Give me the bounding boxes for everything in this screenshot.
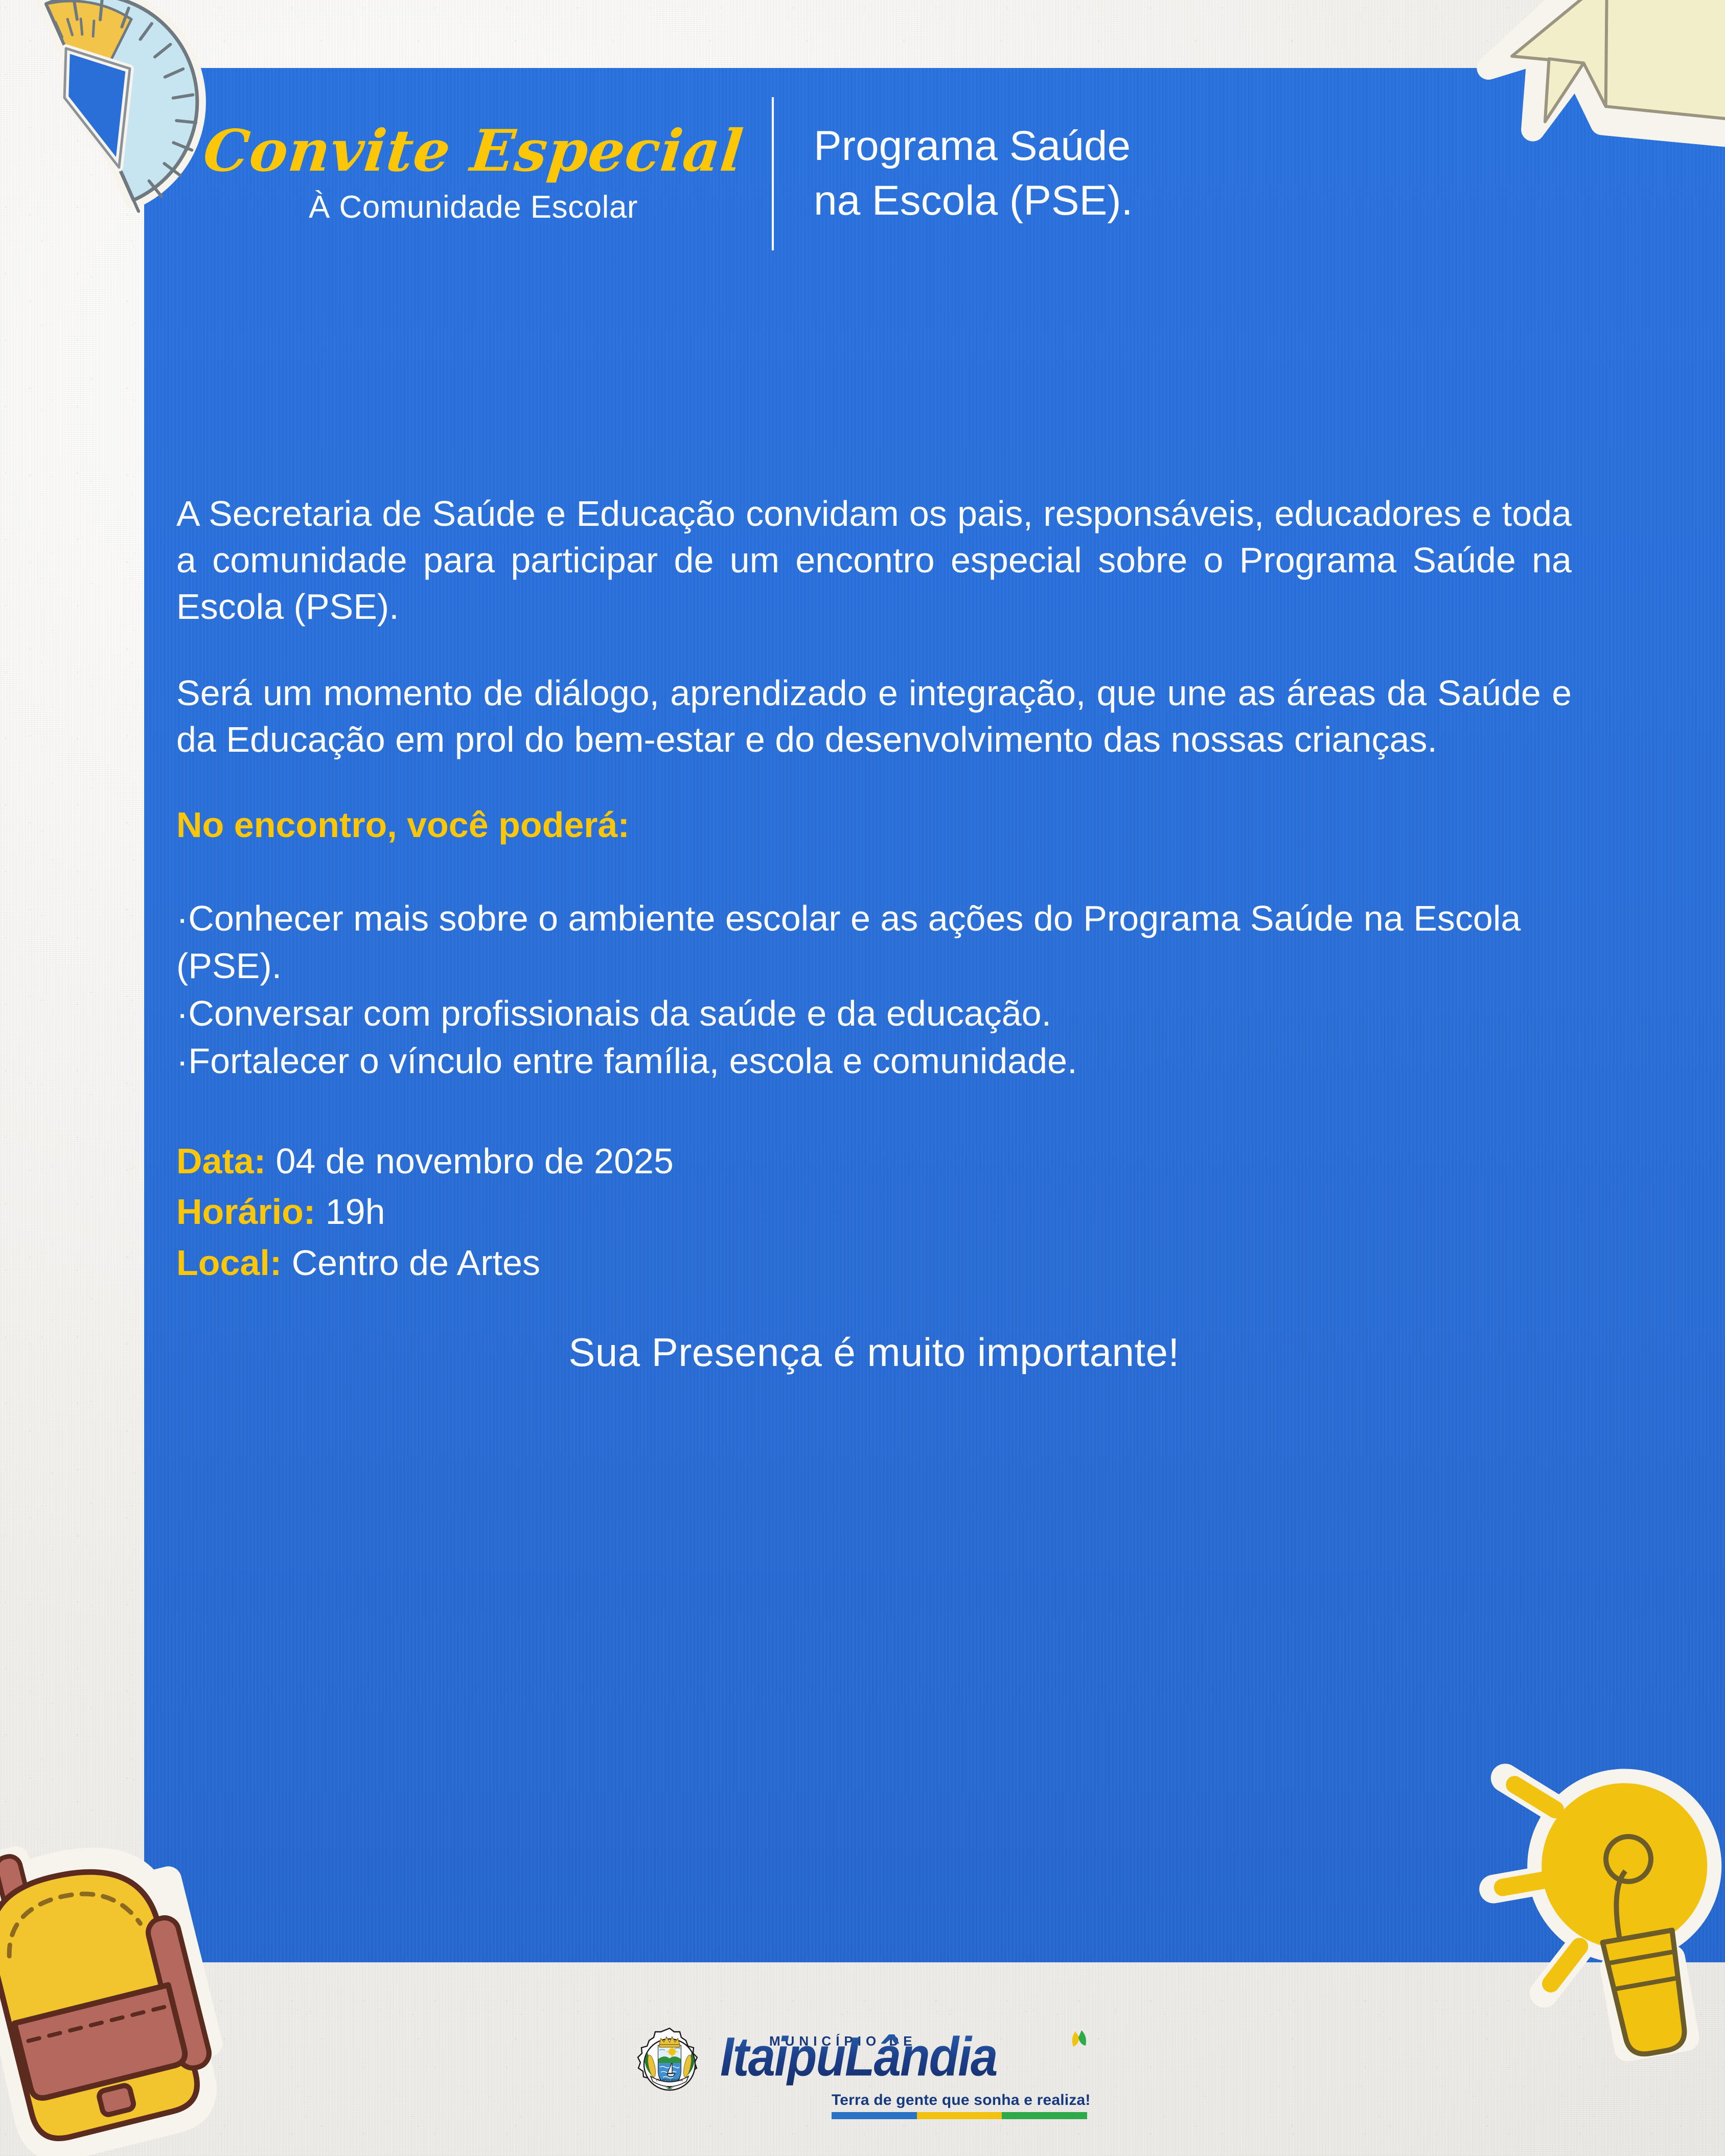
paragraph-intro: A Secretaria de Saúde e Educação convida…: [176, 491, 1572, 630]
bullets-heading: No encontro, você poderá:: [176, 803, 1572, 848]
list-item: ·Conversar com profissionais da saúde e …: [176, 990, 1572, 1037]
header-left-block: Convite Especial À Comunidade Escolar: [189, 122, 772, 225]
detail-value-horario: 19h: [326, 1192, 385, 1232]
leaf-accent-icon: [1064, 2029, 1094, 2058]
bar-yellow: [917, 2112, 1002, 2119]
list-item: ·Conhecer mais sobre o ambiente escolar …: [176, 895, 1572, 990]
program-title-line-1: Programa Saúde: [814, 119, 1133, 174]
logo-wordmark: MUNICÍPIO DE ItaipuLândia Terra de gente…: [720, 2026, 1091, 2119]
event-details: Data: 04 de novembro de 2025 Horário: 19…: [176, 1136, 1572, 1288]
list-item: ·Fortalecer o vínculo entre família, esc…: [176, 1037, 1572, 1085]
closing-message: Sua Presença é muito importante!: [176, 1329, 1572, 1376]
logo-color-bars: [832, 2112, 1087, 2119]
header-subtitle: À Comunidade Escolar: [189, 189, 757, 225]
detail-label-data: Data:: [176, 1141, 266, 1181]
municipality-logo: ITAIPULÂNDIA MUNICÍPIO DE ItaipuLândia T…: [631, 2026, 1101, 2144]
bar-blue: [832, 2112, 917, 2119]
bar-green: [1002, 2112, 1087, 2119]
benefits-list: ·Conhecer mais sobre o ambiente escolar …: [176, 895, 1572, 1085]
detail-row-horario: Horário: 19h: [176, 1187, 1572, 1237]
poster-header: Convite Especial À Comunidade Escolar Pr…: [189, 92, 1441, 256]
detail-label-local: Local:: [176, 1243, 282, 1283]
poster-canvas: Convite Especial À Comunidade Escolar Pr…: [0, 0, 1725, 2156]
script-title: Convite Especial: [186, 122, 761, 180]
logo-city-name: ItaipuLândia: [720, 2029, 1091, 2085]
coat-of-arms-icon: ITAIPULÂNDIA: [631, 2026, 708, 2103]
detail-value-local: Centro de Artes: [292, 1243, 540, 1283]
detail-value-data: 04 de novembro de 2025: [276, 1141, 674, 1181]
detail-row-data: Data: 04 de novembro de 2025: [176, 1136, 1572, 1187]
crest-motto-text: ITAIPULÂNDIA: [656, 2078, 683, 2082]
detail-row-local: Local: Centro de Artes: [176, 1238, 1572, 1288]
detail-label-horario: Horário:: [176, 1192, 315, 1232]
header-right-block: Programa Saúde na Escola (PSE).: [774, 119, 1133, 228]
paragraph-description: Será um momento de diálogo, aprendizado …: [176, 670, 1572, 763]
program-title-line-2: na Escola (PSE).: [814, 174, 1133, 228]
poster-body: A Secretaria de Saúde e Educação convida…: [176, 491, 1572, 1376]
logo-tagline: Terra de gente que sonha e realiza!: [832, 2092, 1091, 2109]
